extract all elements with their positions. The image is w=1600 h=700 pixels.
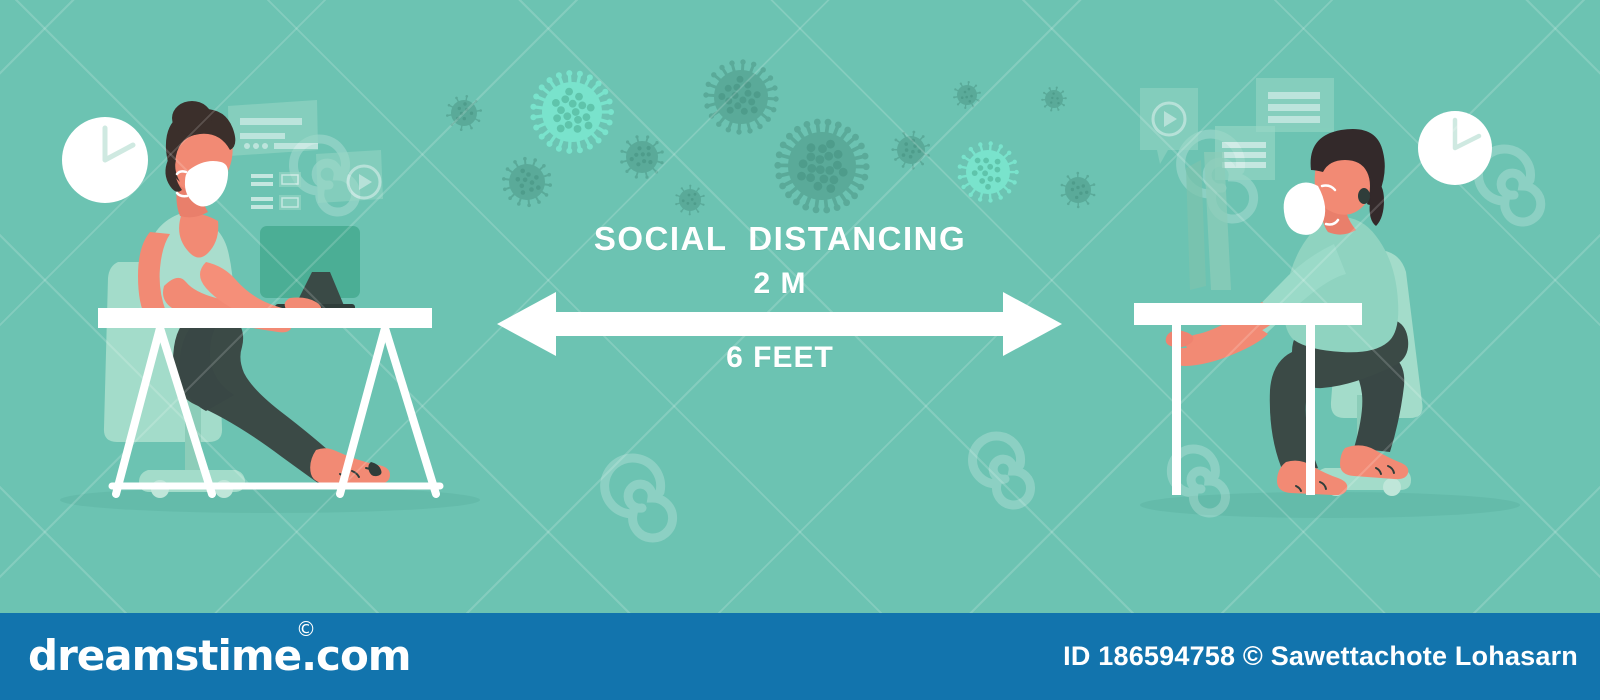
screenshot-root: SOCIAL DISTANCING 2 M 6 FEET dreamstime.… bbox=[0, 0, 1600, 700]
clock-right-icon bbox=[1418, 111, 1492, 185]
dreamstime-wordmark: dreamstime.com bbox=[28, 631, 411, 680]
hair-bun bbox=[172, 101, 212, 135]
distance-metric-label: 2 M bbox=[500, 269, 1060, 299]
headline-social-distancing: SOCIAL DISTANCING bbox=[500, 222, 1060, 255]
chat-bubble-card-right bbox=[1256, 78, 1334, 132]
stock-footer-bar: dreamstime.com © ID 186594758 © Sawettac… bbox=[0, 613, 1600, 700]
chat-bubble-card-left bbox=[228, 100, 318, 156]
image-credit: ID 186594758 © Sawettachote Lohasarn bbox=[1063, 641, 1578, 672]
play-button-badge-left bbox=[316, 150, 383, 203]
dreamstime-logo[interactable]: dreamstime.com © bbox=[28, 631, 411, 680]
clock-left-icon bbox=[62, 117, 148, 203]
illustration-canvas: SOCIAL DISTANCING 2 M 6 FEET bbox=[0, 0, 1600, 613]
distance-imperial-label: 6 FEET bbox=[500, 343, 1060, 373]
floor-shadow-left bbox=[60, 487, 480, 513]
registered-mark-icon: © bbox=[296, 617, 315, 641]
virus-particle bbox=[620, 135, 664, 179]
distance-text-block: SOCIAL DISTANCING 2 M 6 FEET bbox=[500, 222, 1060, 373]
